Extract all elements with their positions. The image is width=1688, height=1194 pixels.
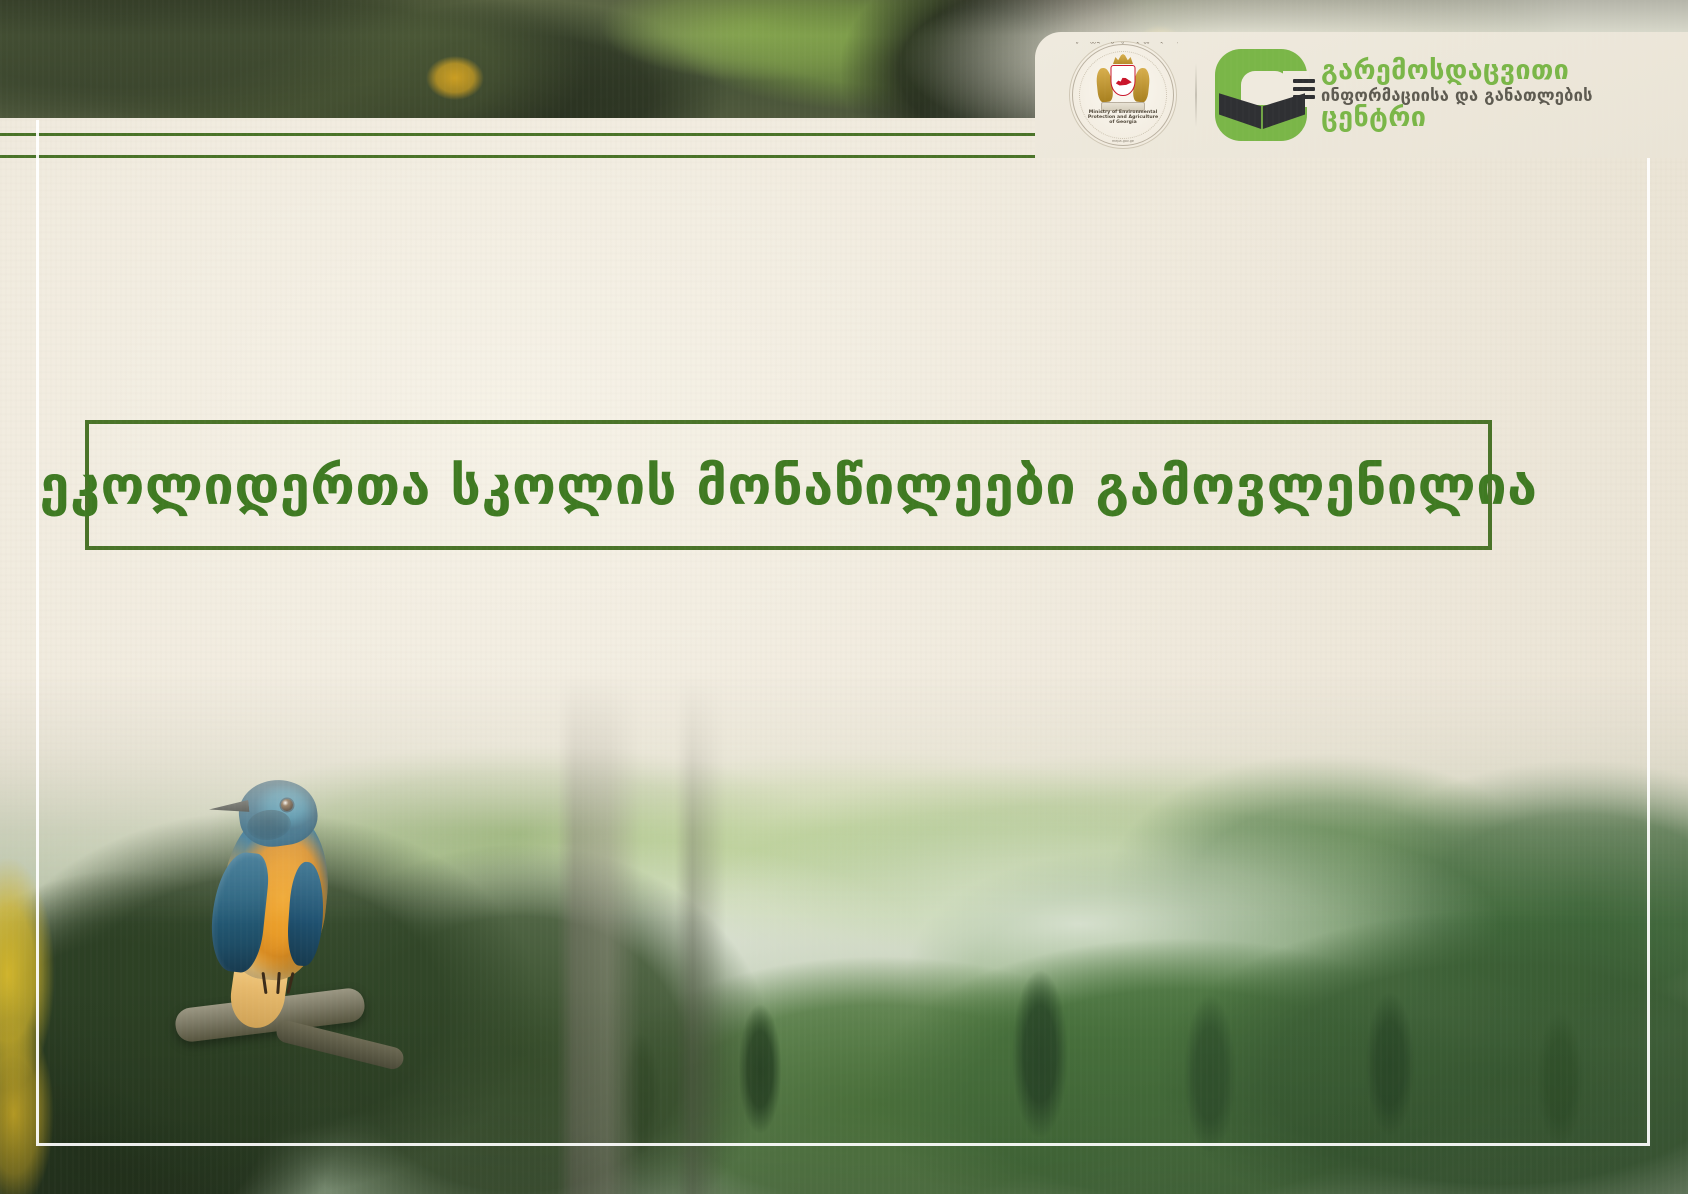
- emblem-url: mepa.gov.ge: [1070, 139, 1176, 143]
- headline-box: ეკოლიდერთა სკოლის მონაწილეები გამოვლენილ…: [85, 420, 1492, 550]
- eiec-bar-1: [1293, 79, 1315, 83]
- page-title: ეკოლიდერთა სკოლის მონაწილეები გამოვლენილ…: [39, 454, 1537, 517]
- eiec-bar-3: [1293, 95, 1315, 99]
- eiec-book-leaf-icon: [1215, 49, 1307, 141]
- eiec-book-page-left: [1219, 91, 1262, 129]
- ministry-emblem-icon: საქართველოს გარემოს დაცვისა და სოფლის მე…: [1069, 41, 1177, 149]
- eiec-text-line1: გარემოსდაცვითი: [1321, 57, 1593, 86]
- bird-eye: [281, 799, 293, 811]
- emblem-english-text: Ministry of Environmental Protection and…: [1070, 110, 1176, 125]
- bird-toe-2: [276, 972, 281, 994]
- logo-divider: [1195, 63, 1197, 127]
- logo-panel: საქართველოს გარემოს დაცვისა და სოფლის მე…: [1035, 32, 1688, 158]
- eiec-bar-2: [1293, 87, 1315, 91]
- flycatcher-bird-illustration: [205, 766, 365, 1016]
- poster-canvas: საქართველოს გარემოს დაცვისა და სოფლის მე…: [0, 0, 1688, 1194]
- header-rule-lower: [0, 155, 1060, 158]
- emblem-shield-icon: [1111, 65, 1136, 96]
- emblem-saint-george-rider-icon: [1114, 75, 1131, 88]
- bird-feet: [257, 972, 299, 998]
- eiec-logo: გარემოსდაცვითი ინფორმაციისა და განათლები…: [1215, 49, 1593, 141]
- bird-toe-3: [286, 972, 294, 994]
- eiec-text-line3: ცენტრი: [1321, 104, 1593, 133]
- emblem-en-line3: of Georgia: [1070, 120, 1176, 125]
- header-rule-upper: [0, 133, 1060, 136]
- bottom-forest-photo: [0, 674, 1688, 1194]
- eiec-logo-text: გარემოსდაცვითი ინფორმაციისა და განათლები…: [1321, 57, 1593, 133]
- emblem-ring-text: საქართველოს გარემოს დაცვისა და სოფლის მე…: [1070, 42, 1178, 44]
- emblem-coat-of-arms: [1100, 64, 1146, 108]
- eiec-bars-icon: [1293, 79, 1315, 103]
- bird-toe-1: [261, 972, 267, 994]
